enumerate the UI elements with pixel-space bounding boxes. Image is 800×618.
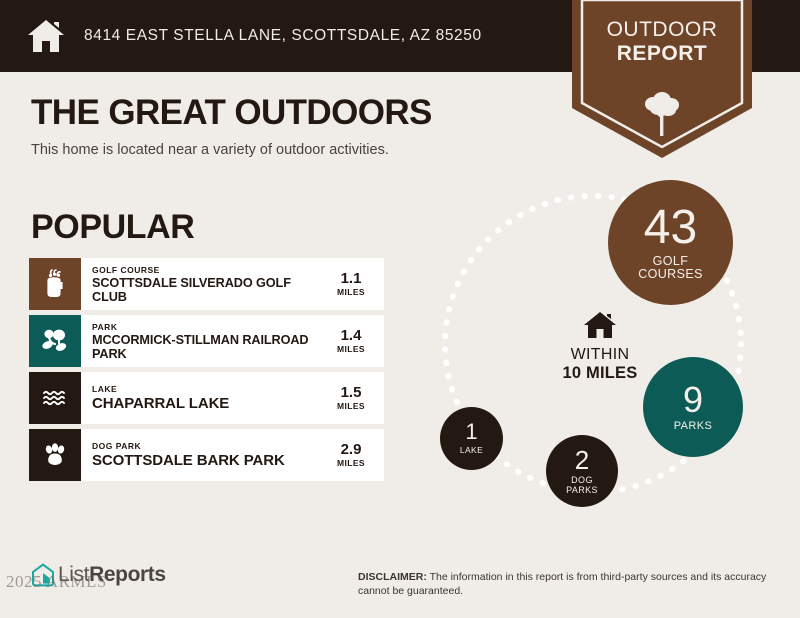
- distance-value: 1.1: [341, 271, 362, 287]
- bubble-label-line-2: PARKS: [566, 486, 598, 496]
- center-line-1: WITHIN: [571, 345, 630, 364]
- list-item-distance: 1.5 MILES: [324, 372, 384, 424]
- list-item-category: DOG PARK: [92, 441, 320, 452]
- park-tree-icon: [29, 315, 81, 367]
- property-address: 8414 EAST STELLA LANE, SCOTTSDALE, AZ 85…: [84, 27, 482, 45]
- bubble-count: 43: [644, 204, 697, 252]
- list-item-name: MCCORMICK-STILLMAN RAILROAD PARK: [92, 333, 320, 361]
- page-subtitle: This home is located near a variety of o…: [31, 140, 551, 160]
- distance-value: 2.9: [341, 442, 362, 458]
- bubble-label-line-1: GOLF: [638, 255, 703, 269]
- list-item-name: CHAPARRAL LAKE: [92, 395, 320, 412]
- outdoor-report-badge: OUTDOOR REPORT: [572, 0, 752, 158]
- list-item-category: GOLF COURSE: [92, 265, 320, 276]
- list-item-text: LAKE CHAPARRAL LAKE: [81, 372, 324, 424]
- paw-print-icon: [29, 429, 81, 481]
- popular-list: GOLF COURSE SCOTTSDALE SILVERADO GOLF CL…: [29, 258, 384, 486]
- list-item-name: SCOTTSDALE SILVERADO GOLF CLUB: [92, 276, 320, 304]
- bubble-count: 1: [465, 421, 477, 443]
- page-title: THE GREAT OUTDOORS: [31, 92, 551, 134]
- diagram-center-label: WITHIN 10 MILES: [530, 310, 670, 383]
- list-item-name: SCOTTSDALE BARK PARK: [92, 452, 320, 469]
- bubble-label: DOG PARKS: [566, 476, 598, 495]
- list-item[interactable]: GOLF COURSE SCOTTSDALE SILVERADO GOLF CL…: [29, 258, 384, 310]
- distance-unit: MILES: [337, 458, 365, 469]
- bubble-golf-courses[interactable]: 43 GOLF COURSES: [608, 180, 733, 305]
- list-item[interactable]: DOG PARK SCOTTSDALE BARK PARK 2.9 MILES: [29, 429, 384, 481]
- amenities-bubble-diagram: 43 GOLF COURSES 9 PARKS 2 DOG PARKS 1 LA…: [418, 172, 788, 532]
- title-block: THE GREAT OUTDOORS This home is located …: [31, 92, 551, 160]
- bubble-label: GOLF COURSES: [638, 255, 703, 282]
- list-item-category: PARK: [92, 322, 320, 333]
- list-item[interactable]: PARK MCCORMICK-STILLMAN RAILROAD PARK 1.…: [29, 315, 384, 367]
- distance-value: 1.4: [341, 328, 362, 344]
- bubble-lake[interactable]: 1 LAKE: [440, 407, 503, 470]
- mls-watermark: 2025 ARMLS: [6, 572, 107, 592]
- bubble-dog-parks[interactable]: 2 DOG PARKS: [546, 435, 618, 507]
- home-icon: [26, 17, 66, 55]
- list-item-distance: 2.9 MILES: [324, 429, 384, 481]
- distance-unit: MILES: [337, 401, 365, 412]
- disclaimer: DISCLAIMER: The information in this repo…: [358, 570, 778, 598]
- list-item-distance: 1.1 MILES: [324, 258, 384, 310]
- home-icon: [583, 310, 617, 340]
- bubble-label: PARKS: [674, 421, 712, 433]
- popular-section-heading: POPULAR: [31, 208, 194, 247]
- distance-unit: MILES: [337, 344, 365, 355]
- water-waves-icon: [29, 372, 81, 424]
- list-item-text: PARK MCCORMICK-STILLMAN RAILROAD PARK: [81, 315, 324, 367]
- disclaimer-label: DISCLAIMER:: [358, 571, 427, 583]
- bubble-count: 9: [683, 382, 703, 418]
- list-item-category: LAKE: [92, 384, 320, 395]
- list-item-text: GOLF COURSE SCOTTSDALE SILVERADO GOLF CL…: [81, 258, 324, 310]
- bubble-label-line-2: COURSES: [638, 268, 703, 282]
- bubble-count: 2: [575, 447, 589, 473]
- distance-unit: MILES: [337, 287, 365, 298]
- list-item-text: DOG PARK SCOTTSDALE BARK PARK: [81, 429, 324, 481]
- list-item-distance: 1.4 MILES: [324, 315, 384, 367]
- bubble-label: LAKE: [460, 446, 483, 455]
- distance-value: 1.5: [341, 385, 362, 401]
- list-item[interactable]: LAKE CHAPARRAL LAKE 1.5 MILES: [29, 372, 384, 424]
- center-line-2: 10 MILES: [563, 364, 638, 383]
- golf-bag-icon: [29, 258, 81, 310]
